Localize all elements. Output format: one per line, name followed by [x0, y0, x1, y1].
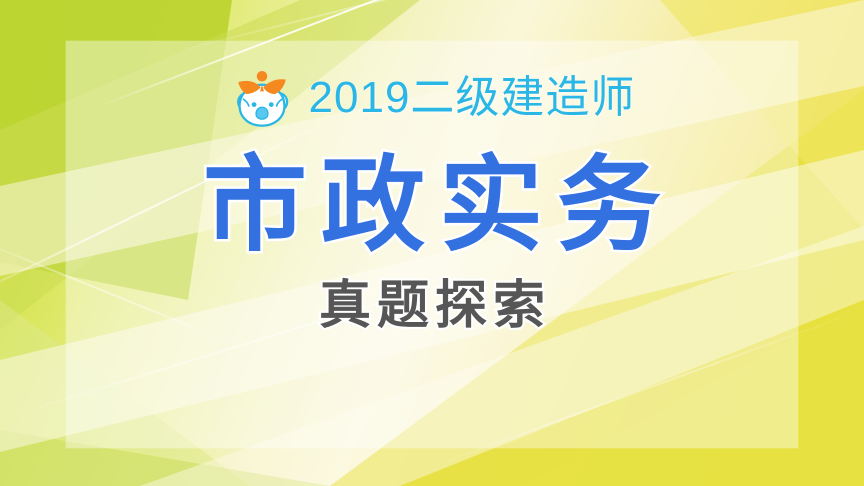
course-title-card: 2019二级建造师 市政实务 真题探索 — [0, 0, 864, 486]
brand-title-text: 2019二级建造师 — [309, 76, 636, 120]
koala-graduate-book-icon — [229, 65, 295, 131]
card-content: 2019二级建造师 市政实务 真题探索 — [0, 0, 864, 486]
page-subtitle: 真题探索 — [313, 280, 551, 332]
page-title: 市政实务 — [189, 150, 675, 262]
brand-row: 2019二级建造师 — [229, 62, 636, 134]
